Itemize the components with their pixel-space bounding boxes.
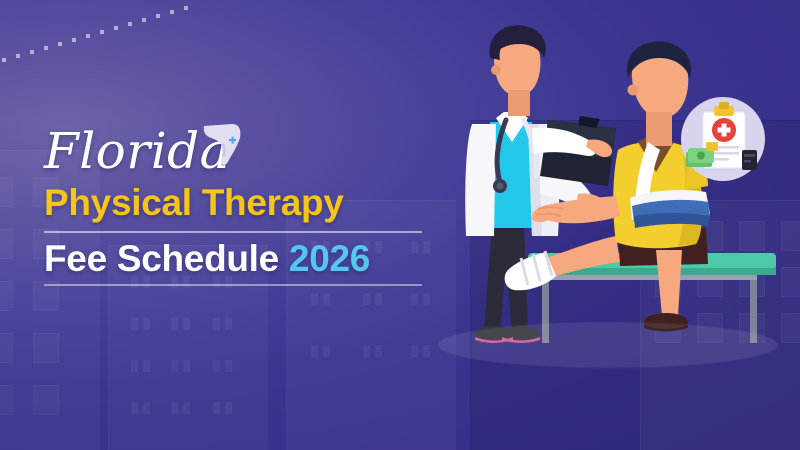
headline-physical-therapy: Physical Therapy bbox=[44, 183, 474, 223]
dotted-diagonal-accent-icon bbox=[0, 0, 300, 120]
hero-banner: Florida Physical Therapy Fee Schedule 20… bbox=[0, 0, 800, 450]
fee-schedule-group: Fee Schedule 2026 bbox=[44, 231, 422, 286]
headline-block: Florida Physical Therapy Fee Schedule 20… bbox=[44, 126, 474, 286]
headline-florida: Florida bbox=[44, 126, 230, 176]
floor-shadow-ellipse bbox=[438, 322, 778, 368]
illustration-group bbox=[420, 0, 800, 450]
card-icon bbox=[742, 150, 757, 170]
headline-fee-schedule: Fee Schedule 2026 bbox=[44, 233, 422, 284]
medical-scene-illustration bbox=[420, 0, 800, 450]
divider-bottom bbox=[44, 284, 422, 286]
headline-year: 2026 bbox=[289, 238, 370, 279]
fee-schedule-text: Fee Schedule bbox=[44, 238, 279, 279]
doctor-figure bbox=[465, 25, 616, 343]
medical-bill-badge bbox=[681, 97, 765, 181]
florida-state-map-icon bbox=[202, 120, 244, 168]
